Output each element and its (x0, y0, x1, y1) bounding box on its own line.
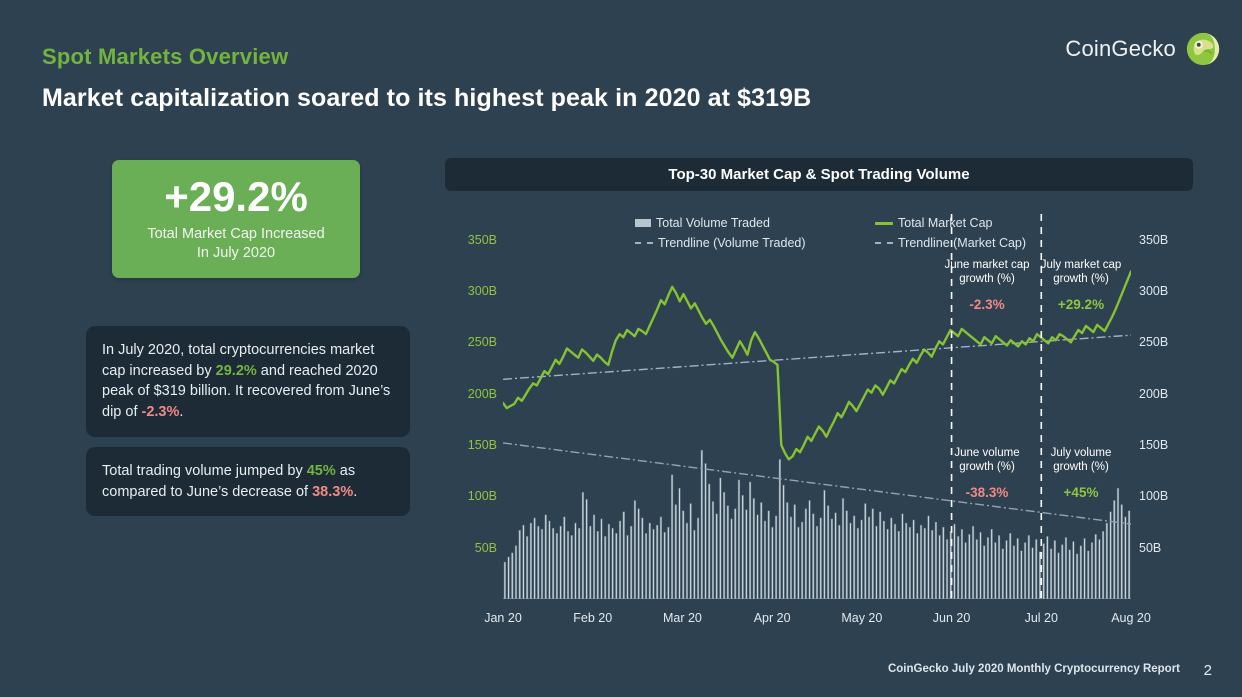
x-axis-tick: Aug 20 (1111, 611, 1151, 625)
page-number: 2 (1204, 662, 1212, 679)
x-axis-tick: Mar 20 (663, 611, 702, 625)
annotation-june-market-cap-value: -2.3% (941, 296, 1033, 313)
note-1-text-c: . (179, 404, 183, 420)
axis-tick: 250B (445, 335, 497, 349)
slide: Spot Markets Overview Market capitalizat… (0, 0, 1242, 697)
axis-tick: 50B (1139, 541, 1193, 555)
stat-caption: Total Market Cap Increased In July 2020 (147, 225, 324, 262)
headline-stat-card: +29.2% Total Market Cap Increased In Jul… (112, 160, 360, 278)
x-axis-tick: Jul 20 (1025, 611, 1058, 625)
chart-area: Total Volume Traded Total Market Cap Tre… (445, 196, 1193, 641)
note-2-text-a: Total trading volume jumped by (102, 463, 307, 479)
axis-tick: 350B (1139, 233, 1193, 247)
brand-name: CoinGecko (1065, 36, 1176, 62)
footer-text: CoinGecko July 2020 Monthly Cryptocurren… (888, 663, 1180, 675)
x-axis-tick: May 20 (841, 611, 882, 625)
gecko-icon (1186, 32, 1220, 66)
axis-tick: 200B (445, 387, 497, 401)
note-2-highlight-positive: 45% (307, 463, 336, 479)
x-axis-tick: Jun 20 (933, 611, 971, 625)
x-axis-labels: Jan 20Feb 20Mar 20Apr 20May 20Jun 20Jul … (503, 611, 1131, 631)
annotation-july-volume-value: +45% (1035, 484, 1127, 501)
axis-tick: 300B (1139, 284, 1193, 298)
annotation-july-market-cap: July market cap growth (%) +29.2% (1035, 258, 1127, 313)
stat-value: +29.2% (164, 176, 308, 218)
brand-logo: CoinGecko (1065, 32, 1220, 66)
axis-tick: 100B (445, 489, 497, 503)
axis-tick: 350B (445, 233, 497, 247)
note-trading-volume: Total trading volume jumped by 45% as co… (86, 447, 410, 516)
x-axis-tick: Feb 20 (573, 611, 612, 625)
annotation-june-volume-value: -38.3% (941, 484, 1033, 501)
note-1-highlight-positive: 29.2% (216, 363, 257, 379)
note-market-cap: In July 2020, total cryptocurrencies mar… (86, 326, 410, 437)
annotation-july-volume-label: July volume growth (%) (1035, 446, 1127, 475)
note-1-highlight-negative: -2.3% (142, 404, 180, 420)
chart-title-bar: Top-30 Market Cap & Spot Trading Volume (445, 158, 1193, 191)
annotation-june-market-cap: June market cap growth (%) -2.3% (941, 258, 1033, 313)
axis-tick: 150B (1139, 438, 1193, 452)
stat-caption-line-1: Total Market Cap Increased (147, 225, 324, 244)
annotation-july-market-cap-label: July market cap growth (%) (1035, 258, 1127, 287)
annotation-june-volume-label: June volume growth (%) (941, 446, 1033, 475)
note-2-text-c: . (353, 484, 357, 500)
stat-caption-line-2: In July 2020 (147, 244, 324, 263)
annotation-july-market-cap-value: +29.2% (1035, 296, 1127, 313)
axis-tick: 200B (1139, 387, 1193, 401)
page-kicker: Spot Markets Overview (42, 44, 288, 70)
annotation-june-volume: June volume growth (%) -38.3% (941, 446, 1033, 501)
annotation-june-market-cap-label: June market cap growth (%) (941, 258, 1033, 287)
axis-tick: 300B (445, 284, 497, 298)
axis-tick: 150B (445, 438, 497, 452)
trendline-market-cap (503, 335, 1131, 379)
axis-tick: 100B (1139, 489, 1193, 503)
annotation-july-volume: July volume growth (%) +45% (1035, 446, 1127, 501)
axis-tick: 50B (445, 541, 497, 555)
x-axis-tick: Apr 20 (754, 611, 791, 625)
page-title: Market capitalization soared to its high… (42, 84, 811, 113)
x-axis-tick: Jan 20 (484, 611, 522, 625)
note-2-highlight-negative: 38.3% (312, 484, 353, 500)
axis-tick: 250B (1139, 335, 1193, 349)
chart-title: Top-30 Market Cap & Spot Trading Volume (668, 166, 969, 183)
